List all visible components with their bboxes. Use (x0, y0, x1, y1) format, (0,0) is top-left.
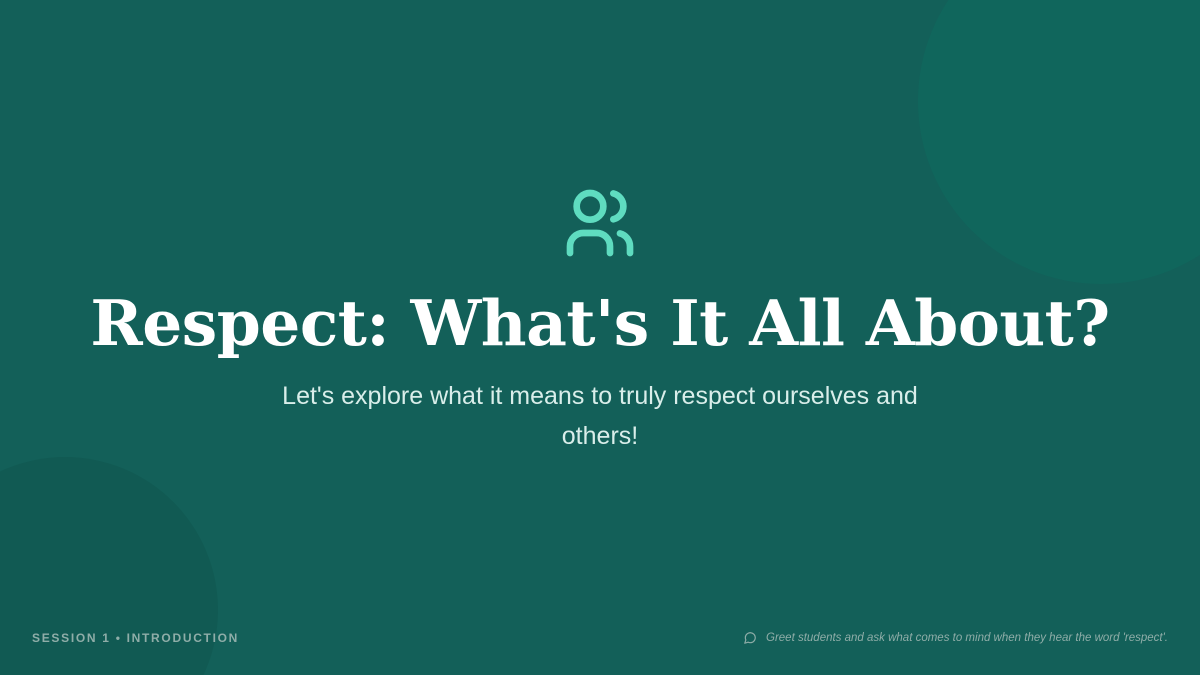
page-title: Respect: What's It All About? (90, 289, 1109, 357)
session-label: SESSION 1 • INTRODUCTION (32, 631, 239, 645)
presentation-slide: Respect: What's It All About? Let's expl… (0, 0, 1200, 675)
users-icon (560, 183, 640, 263)
speaker-note: Greet students and ask what comes to min… (743, 631, 1168, 645)
slide-subtitle: Let's explore what it means to truly res… (250, 376, 950, 456)
speaker-note-text: Greet students and ask what comes to min… (766, 631, 1168, 645)
slide-content: Respect: What's It All About? Let's expl… (0, 0, 1200, 675)
speech-bubble-icon (743, 631, 757, 645)
slide-footer: SESSION 1 • INTRODUCTION Greet students … (0, 627, 1200, 649)
